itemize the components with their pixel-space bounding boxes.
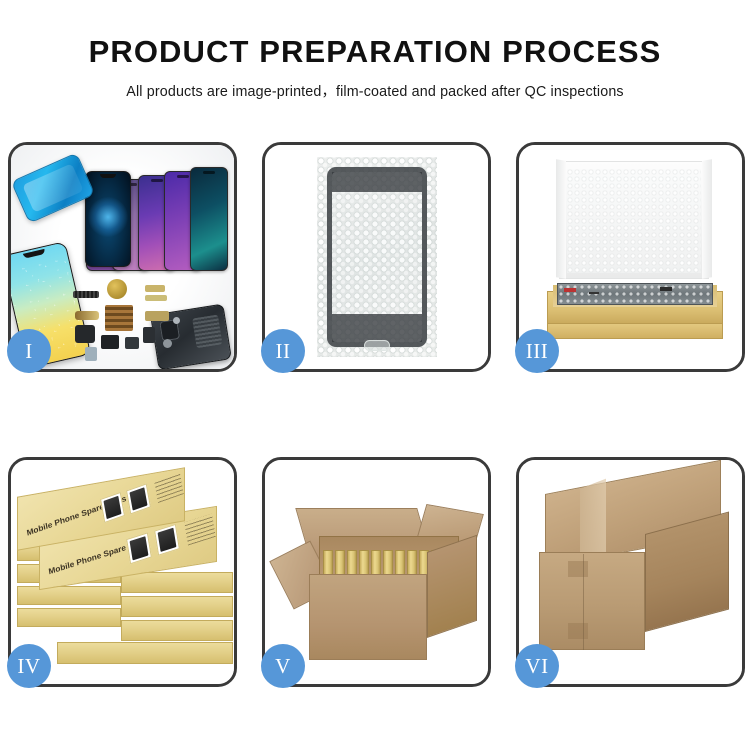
box-spec-lines xyxy=(184,514,215,546)
box-window-thumbnail xyxy=(154,524,180,556)
page-subtitle: All products are image-printed，film-coat… xyxy=(0,80,750,101)
phone-device-icon xyxy=(190,167,228,271)
kraft-box-edge xyxy=(57,642,233,664)
carton-hand-hole xyxy=(568,623,588,639)
process-step-panel-3: III xyxy=(516,142,745,372)
process-step-panel-5: V xyxy=(262,457,491,687)
kraft-box-edge xyxy=(17,608,121,627)
box-spec-lines xyxy=(154,473,183,503)
kraft-box-edge xyxy=(121,596,233,617)
kraft-box-edge xyxy=(121,620,233,641)
page-title: PRODUCT PREPARATION PROCESS xyxy=(0,36,750,69)
sealed-shipping-carton xyxy=(535,494,731,658)
kraft-box-stack: Mobile Phone Spare Parts Mobile Phone Sp… xyxy=(15,476,234,672)
spare-parts-group xyxy=(71,277,191,365)
kraft-box-edge xyxy=(121,572,233,593)
gold-contact-part-icon xyxy=(145,311,169,321)
step-badge-3: III xyxy=(515,329,559,373)
foam-padding-icon xyxy=(567,169,701,273)
carton-side-panel xyxy=(645,511,729,632)
flex-connector-part-icon xyxy=(145,285,165,292)
box-window-thumbnail xyxy=(126,483,151,514)
sim-tray-part-icon xyxy=(85,347,97,361)
connector-part-icon xyxy=(125,337,139,349)
product-preparation-infographic: PRODUCT PREPARATION PROCESS All products… xyxy=(0,0,750,750)
box-window-thumbnail xyxy=(100,492,125,523)
flex-connector-part-icon xyxy=(145,295,167,301)
carton-front-panel xyxy=(309,574,427,660)
process-step-panel-2: II xyxy=(262,142,491,372)
box-window-thumbnail xyxy=(126,532,152,564)
gold-flex-part-icon xyxy=(75,311,99,320)
flex-cable-part-icon xyxy=(73,291,99,298)
step-badge-5: V xyxy=(261,644,305,688)
step-badge-1: I xyxy=(7,329,51,373)
step-badge-4: IV xyxy=(7,644,51,688)
camera-module-part-icon xyxy=(75,325,95,343)
process-step-panel-4: Mobile Phone Spare Parts Mobile Phone Sp… xyxy=(8,457,237,687)
wrapped-screen-in-box-icon xyxy=(557,283,713,305)
process-step-panel-1: I xyxy=(8,142,237,372)
home-button-icon xyxy=(364,340,390,351)
process-step-panel-6: VI xyxy=(516,457,745,687)
kraft-box-front-panel xyxy=(547,323,723,339)
process-step-grid: I II III xyxy=(8,142,742,687)
button-part-icon xyxy=(143,327,155,343)
step-badge-6: VI xyxy=(515,644,559,688)
screw-part-icon xyxy=(163,339,172,348)
carton-side-panel xyxy=(427,535,477,638)
carton-hand-hole xyxy=(568,561,588,577)
carton-front-panel xyxy=(539,552,645,650)
open-shipping-carton xyxy=(279,490,481,666)
screw-part-icon xyxy=(173,317,180,324)
step-badge-2: II xyxy=(261,329,305,373)
phone-front-glass-icon xyxy=(85,171,131,267)
speaker-part-icon xyxy=(101,335,119,349)
vibration-motor-part-icon xyxy=(107,279,127,299)
bubble-wrapped-screen xyxy=(317,157,437,357)
kraft-box-edge xyxy=(17,586,121,605)
phone-screen-outline-icon xyxy=(327,167,427,347)
header: PRODUCT PREPARATION PROCESS All products… xyxy=(0,0,750,101)
logic-board-part-icon xyxy=(105,305,133,331)
carton-seam-line xyxy=(583,554,584,650)
